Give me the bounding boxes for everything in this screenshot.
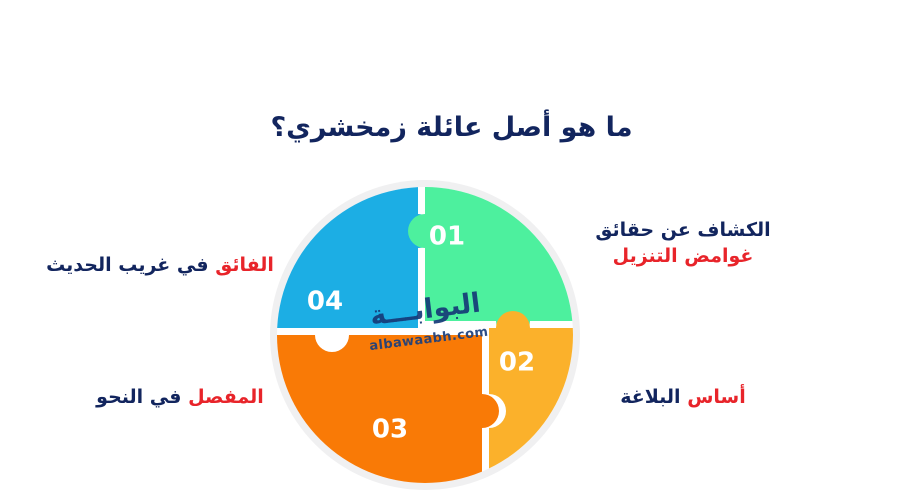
piece-label-02-navy: البلاغة [620, 386, 680, 408]
piece-label-03-red: المفصل [188, 386, 264, 408]
piece-number-02: 02 [499, 348, 535, 378]
piece-label-04: الفائق في غريب الحديث [45, 252, 275, 278]
piece-label-03-navy: في النحو [96, 386, 181, 408]
piece-label-04-navy: في غريب الحديث [46, 254, 209, 276]
piece-label-01-navy: الكشاف عن حقائق [583, 217, 783, 243]
piece-label-01-red: غوامض التنزيل [583, 243, 783, 269]
piece-label-02-red: أساس [687, 386, 746, 408]
page-title: ما هو أصل عائلة زمخشري؟ [0, 112, 903, 143]
piece-label-04-red: الفائق [215, 254, 274, 276]
puzzle-wheel: 01 02 03 04 [268, 178, 582, 492]
piece-number-03: 03 [372, 415, 408, 445]
puzzle-piece-03[interactable] [268, 335, 499, 492]
piece-label-03: المفصل في النحو [80, 384, 280, 410]
piece-label-02: أساس البلاغة [583, 384, 783, 410]
piece-number-01: 01 [429, 222, 465, 252]
center-logo-panel [425, 328, 489, 335]
piece-label-01: الكشاف عن حقائق غوامض التنزيل [583, 217, 783, 269]
piece-number-04: 04 [307, 287, 343, 317]
